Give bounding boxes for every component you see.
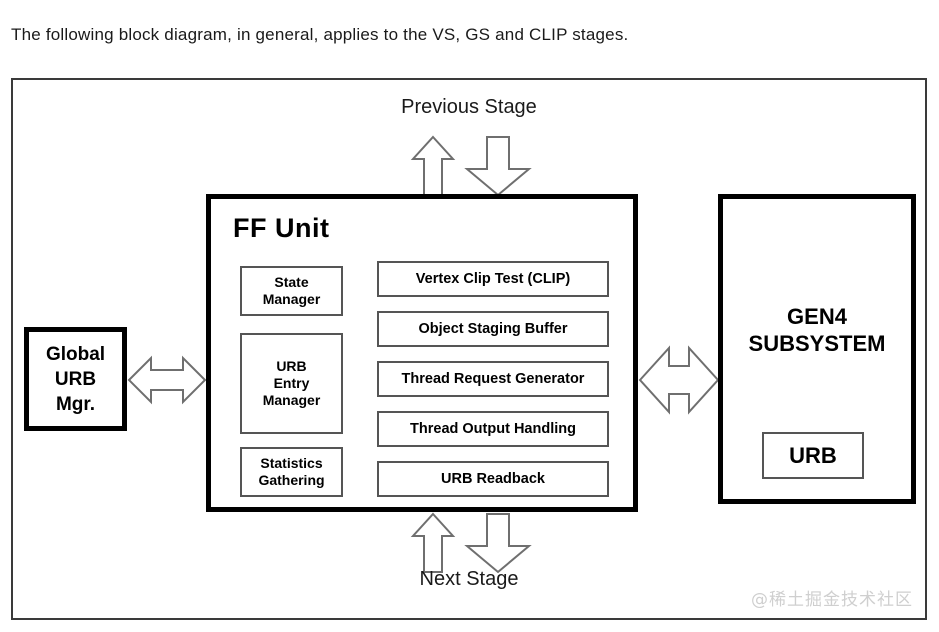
gen4-subsystem-block: GEN4 SUBSYSTEM URB [718,194,916,504]
previous-stage-label: Previous Stage [13,95,925,119]
thread-request-generator-block: Thread Request Generator [377,361,609,397]
ff-unit-block: FF Unit State Manager URB Entry Manager … [206,194,638,512]
global-urb-mgr-label: Global URB Mgr. [46,342,105,417]
urb-entry-manager-block: URB Entry Manager [240,333,343,434]
thread-output-handling-block: Thread Output Handling [377,411,609,447]
global-urb-mgr-block: Global URB Mgr. [24,327,127,431]
vertex-clip-test-block: Vertex Clip Test (CLIP) [377,261,609,297]
arrow-up-icon [411,512,455,574]
object-staging-buffer-block: Object Staging Buffer [377,311,609,347]
arrow-left-right-icon [638,342,720,418]
intro-paragraph: The following block diagram, in general,… [11,24,628,46]
arrow-left-right-icon [127,352,207,408]
urb-readback-block: URB Readback [377,461,609,497]
arrow-down-icon [465,512,531,574]
arrow-up-icon [411,135,455,197]
urb-block: URB [762,432,864,479]
arrow-down-icon [465,135,531,197]
block-diagram-frame: Previous Stage Global URB Mgr. FF Unit S… [11,78,927,620]
statistics-gathering-block: Statistics Gathering [240,447,343,497]
ff-unit-title: FF Unit [233,213,329,244]
gen4-subsystem-label: GEN4 SUBSYSTEM [723,303,911,357]
state-manager-block: State Manager [240,266,343,316]
watermark-text: @稀土掘金技术社区 [751,585,913,610]
